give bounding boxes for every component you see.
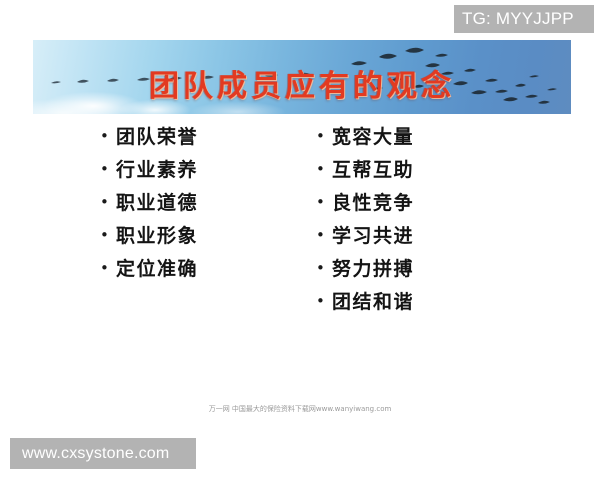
list-item-label: 学习共进 bbox=[332, 227, 414, 246]
list-item-label: 团结和谐 bbox=[332, 293, 414, 312]
list-item-label: 良性竞争 bbox=[332, 194, 414, 213]
slide-title: 团队成员应有的观念 bbox=[33, 46, 571, 114]
footer-credit: 万一网 中国最大的保险资料下载网www.wanyiwang.com bbox=[0, 404, 600, 414]
bullet-icon: • bbox=[100, 195, 116, 210]
list-item: • 宽容大量 bbox=[316, 128, 414, 161]
tg-badge: TG: MYYJJPP bbox=[454, 5, 594, 33]
banner-image: 团队成员应有的观念 bbox=[33, 40, 571, 114]
list-item: • 学习共进 bbox=[316, 227, 414, 260]
list-item-label: 职业道德 bbox=[116, 194, 198, 213]
bullet-columns: • 团队荣誉 • 行业素养 • 职业道德 • 职业形象 • 定位准确 • bbox=[0, 128, 600, 328]
bullet-icon: • bbox=[100, 228, 116, 243]
list-item: • 团结和谐 bbox=[316, 293, 414, 326]
bullet-icon: • bbox=[100, 162, 116, 177]
list-item: • 团队荣誉 bbox=[100, 128, 198, 161]
list-item: • 良性竞争 bbox=[316, 194, 414, 227]
bullet-column-left: • 团队荣誉 • 行业素养 • 职业道德 • 职业形象 • 定位准确 bbox=[100, 128, 198, 293]
bullet-icon: • bbox=[316, 162, 332, 177]
bullet-icon: • bbox=[316, 129, 332, 144]
list-item-label: 宽容大量 bbox=[332, 128, 414, 147]
bullet-icon: • bbox=[100, 261, 116, 276]
list-item: • 定位准确 bbox=[100, 260, 198, 293]
list-item-label: 职业形象 bbox=[116, 227, 198, 246]
presentation-slide: 团队成员应有的观念 • 团队荣誉 • 行业素养 • 职业道德 • 职业形象 • … bbox=[0, 0, 600, 480]
bullet-icon: • bbox=[100, 129, 116, 144]
bullet-icon: • bbox=[316, 195, 332, 210]
list-item: • 努力拼搏 bbox=[316, 260, 414, 293]
bullet-icon: • bbox=[316, 261, 332, 276]
list-item-label: 行业素养 bbox=[116, 161, 198, 180]
bullet-icon: • bbox=[316, 228, 332, 243]
list-item: • 职业道德 bbox=[100, 194, 198, 227]
bullet-column-right: • 宽容大量 • 互帮互助 • 良性竞争 • 学习共进 • 努力拼搏 • 团结和… bbox=[316, 128, 414, 326]
list-item-label: 团队荣誉 bbox=[116, 128, 198, 147]
list-item: • 互帮互助 bbox=[316, 161, 414, 194]
list-item: • 行业素养 bbox=[100, 161, 198, 194]
list-item-label: 努力拼搏 bbox=[332, 260, 414, 279]
site-watermark: www.cxsystone.com bbox=[10, 438, 196, 469]
bullet-icon: • bbox=[316, 294, 332, 309]
list-item-label: 定位准确 bbox=[116, 260, 198, 279]
list-item: • 职业形象 bbox=[100, 227, 198, 260]
list-item-label: 互帮互助 bbox=[332, 161, 414, 180]
